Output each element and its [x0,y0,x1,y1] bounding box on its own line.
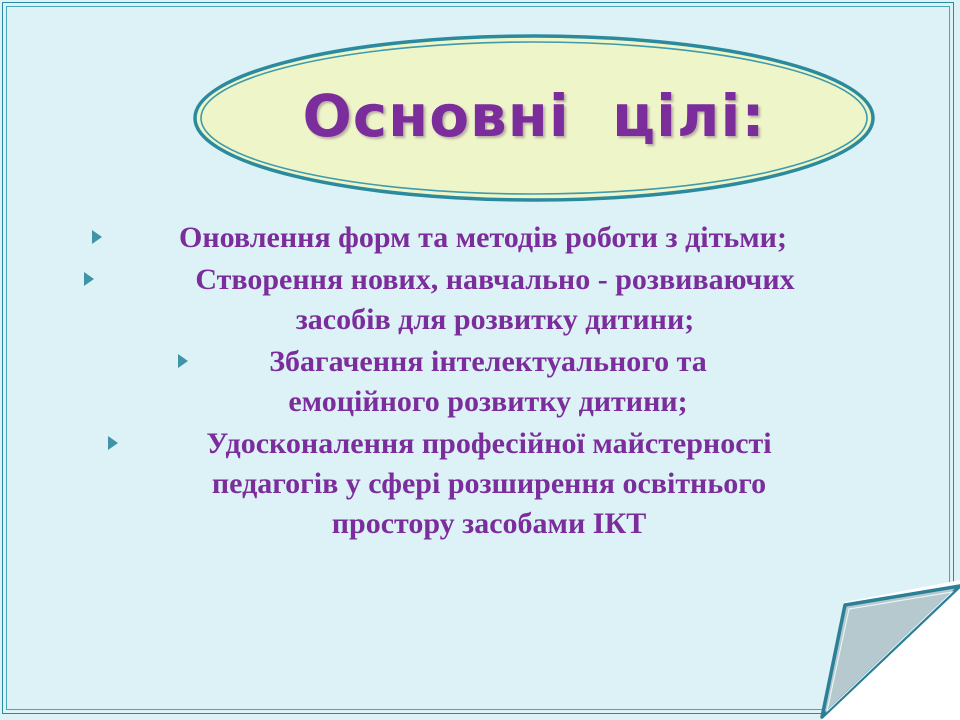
page-title: Основні цілі: [192,33,876,203]
triangle-right-icon [92,230,102,244]
list-item: Створення нових, навчально - розвиваючих… [60,260,900,340]
page-curl-icon [800,580,960,720]
list-item-line: простору засобами ІКТ [60,504,900,544]
list-item: Оновлення форм та методів роботи з дітьм… [60,218,900,258]
list-item: Збагачення інтелектуального та емоційног… [60,342,900,422]
list-item-line: Удосконалення професійної майстерності [60,424,900,464]
list-item-line: Створення нових, навчально - розвиваючих [60,260,900,300]
list-item-line: емоційного розвитку дитини; [60,382,900,422]
list-item-line: Оновлення форм та методів роботи з дітьм… [60,218,900,258]
triangle-right-icon [178,354,188,368]
list-item-line: засобів для розвитку дитини; [60,300,900,340]
list-item: Удосконалення професійної майстерності п… [60,424,900,544]
triangle-right-icon [108,436,118,450]
objectives-list: Оновлення форм та методів роботи з дітьм… [60,218,900,546]
list-item-line: педагогів у сфері розширення освітнього [60,464,900,504]
title-banner: Основні цілі: [192,33,876,203]
slide: Основні цілі: Оновлення форм та методів … [0,0,960,720]
triangle-right-icon [84,272,94,286]
